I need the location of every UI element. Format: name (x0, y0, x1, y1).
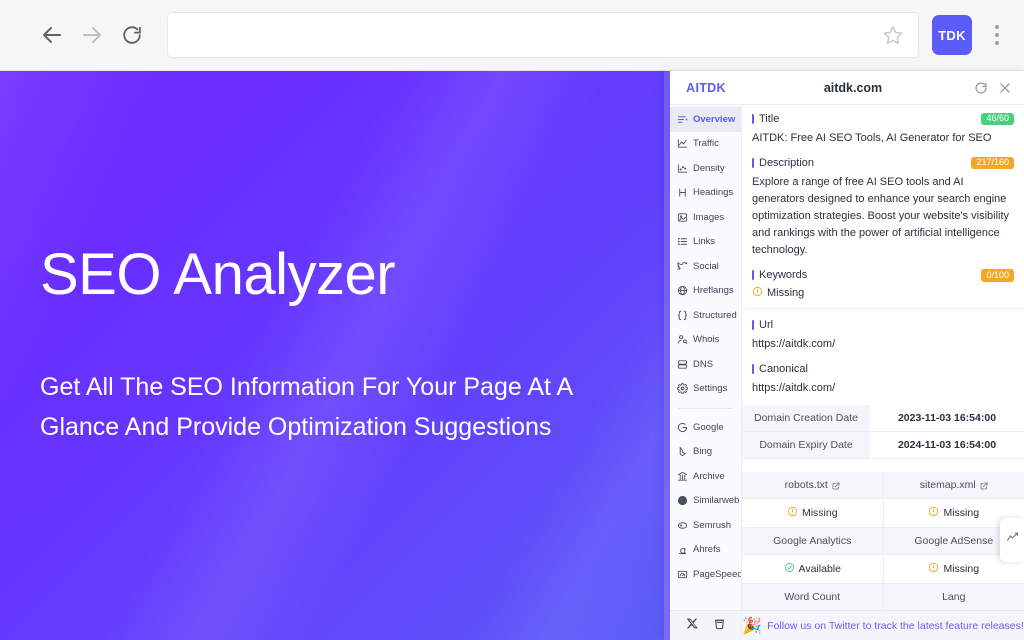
refresh-icon[interactable] (974, 81, 988, 95)
google-icon (677, 422, 688, 433)
warning-circle-icon (928, 562, 939, 576)
table-row: Domain Creation Date 2023-11-03 16:54:00 (742, 405, 1024, 432)
field-keywords: Keywords 0/100 Missing (742, 267, 1024, 300)
sidebar-item-overview[interactable]: Overview (670, 107, 741, 132)
semrush-icon (677, 520, 688, 531)
address-bar[interactable] (168, 13, 918, 57)
pagespeed-icon (677, 569, 688, 580)
sidebar-item-label: Traffic (693, 138, 719, 149)
image-icon (677, 212, 688, 223)
table-cell-value: 2024-11-03 16:54:00 (870, 432, 1024, 458)
party-popper-icon: 🎉 (742, 616, 762, 636)
headings-icon (677, 187, 688, 198)
table-cell-value: 2023-11-03 16:54:00 (870, 405, 1024, 431)
table-cell-header: Google Analytics (742, 528, 884, 555)
section-divider (742, 308, 1024, 309)
braces-icon (677, 310, 688, 321)
table-cell-header: robots.txt (785, 479, 828, 491)
field-marker (752, 364, 754, 374)
sidebar-item-images[interactable]: Images (670, 205, 741, 230)
sidebar-item-archive[interactable]: Archive (670, 464, 741, 489)
panel-domain-label: aitdk.com (742, 81, 974, 95)
table-row: Google Analytics Google AdSense (742, 528, 1024, 555)
overview-icon (677, 114, 688, 125)
sidebar-item-hreflangs[interactable]: Hreflangs (670, 279, 741, 304)
status-badge: 217/160 (971, 157, 1014, 170)
field-value: AITDK: Free AI SEO Tools, AI Generator f… (752, 130, 1014, 147)
warning-circle-icon (787, 506, 798, 520)
content-scroll[interactable]: Title 46/60 AITDK: Free AI SEO Tools, AI… (742, 105, 1024, 610)
sidebar-item-label: Social (693, 261, 719, 272)
sidebar-item-label: Images (693, 212, 724, 223)
field-status: Missing (752, 286, 1014, 300)
sidebar-item-semrush[interactable]: Semrush (670, 513, 741, 538)
check-circle-icon (784, 562, 795, 576)
density-chart-icon (677, 163, 688, 174)
warning-circle-icon (928, 506, 939, 520)
sidebar-item-label: Headings (693, 187, 733, 198)
field-value: https://aitdk.com/ (752, 336, 1014, 353)
table-cell-header: sitemap.xml (920, 479, 976, 491)
table-cell-header: Lang (884, 584, 1024, 610)
aitdk-panel: AITDK aitdk.com Overvi (664, 71, 1024, 640)
floating-chart-handle[interactable] (1000, 518, 1024, 562)
field-marker (752, 114, 754, 124)
person-search-icon (677, 334, 688, 345)
sidebar-item-label: Settings (693, 383, 727, 394)
browser-menu-button[interactable] (980, 13, 1014, 57)
kebab-menu-icon (995, 33, 999, 37)
sidebar-item-density[interactable]: Density (670, 156, 741, 181)
globe-icon (677, 285, 688, 296)
sidebar-item-pagespeed[interactable]: PageSpeed (670, 562, 741, 587)
sidebar-item-label: PageSpeed (693, 569, 741, 580)
twitter-x-icon[interactable] (686, 617, 699, 635)
sidebar-scroll[interactable]: Overview Traffic Density (670, 105, 741, 610)
field-marker (752, 270, 754, 280)
similarweb-icon (677, 495, 688, 506)
kebab-menu-icon (995, 41, 999, 45)
google-analytics-status: Available (742, 555, 884, 584)
sidebar-item-links[interactable]: Links (670, 230, 741, 255)
traffic-chart-icon (677, 138, 688, 149)
field-canonical: Canonical https://aitdk.com/ (742, 361, 1024, 397)
sidebar-item-traffic[interactable]: Traffic (670, 132, 741, 157)
field-description: Description 217/160 Explore a range of f… (742, 155, 1024, 259)
gear-icon (677, 383, 688, 394)
aitdk-extension-button[interactable]: TDK (932, 15, 972, 55)
sidebar-item-label: Whois (693, 334, 719, 345)
panel-body: Overview Traffic Density (664, 105, 1024, 640)
panel-sidebar: Overview Traffic Density (670, 105, 742, 640)
arrow-right-icon (80, 23, 104, 47)
forward-button[interactable] (72, 15, 112, 55)
table-row: Domain Expiry Date 2024-11-03 16:54:00 (742, 432, 1024, 459)
sidebar-footer (670, 610, 741, 640)
sidebar-item-label: Overview (693, 114, 735, 125)
external-link-icon (980, 481, 988, 489)
reload-icon (121, 24, 143, 46)
sidebar-item-similarweb[interactable]: Similarweb (670, 489, 741, 514)
social-bird-icon (677, 261, 688, 272)
sidebar-item-settings[interactable]: Settings (670, 377, 741, 402)
status-text: Available (799, 563, 841, 575)
back-button[interactable] (32, 15, 72, 55)
status-text: Missing (943, 507, 979, 519)
table-row: Word Count Lang (742, 584, 1024, 610)
field-marker (752, 320, 754, 330)
twitter-promo-banner[interactable]: 🎉 Follow us on Twitter to track the late… (742, 610, 1024, 640)
table-cell-header: Word Count (742, 584, 884, 610)
sidebar-item-google[interactable]: Google (670, 415, 741, 440)
links-list-icon (677, 236, 688, 247)
field-url: Url https://aitdk.com/ (742, 317, 1024, 353)
server-icon (677, 359, 688, 370)
sidebar-item-ahrefs[interactable]: Ahrefs (670, 538, 741, 563)
sidebar-item-label: Archive (693, 471, 725, 482)
field-marker (752, 158, 754, 168)
panel-brand: AITDK (670, 81, 742, 95)
sidebar-item-label: Density (693, 163, 725, 174)
table-row: Missing Missing (742, 499, 1024, 528)
sitemap-xml-link[interactable]: sitemap.xml (884, 472, 1024, 499)
sidebar-item-label: Structured (693, 310, 737, 321)
browser-toolbar: TDK (0, 0, 1024, 71)
status-text: Missing (943, 563, 979, 575)
warning-circle-icon (752, 286, 763, 300)
status-badge: 0/100 (981, 269, 1014, 282)
external-link-icon (832, 481, 840, 489)
page-subtitle: Get All The SEO Information For Your Pag… (40, 367, 640, 447)
status-badge: 46/60 (981, 113, 1014, 126)
table-cell-key: Domain Creation Date (742, 405, 870, 431)
field-label: Keywords (759, 269, 807, 281)
page-title: SEO Analyzer (40, 243, 640, 307)
sidebar-divider (678, 408, 733, 409)
sidebar-item-label: Links (693, 236, 715, 247)
kebab-menu-icon (995, 25, 999, 29)
field-label: Url (759, 319, 773, 331)
field-label: Description (759, 157, 814, 169)
sidebar-item-dns[interactable]: DNS (670, 352, 741, 377)
coffee-cup-icon[interactable] (713, 617, 726, 635)
sidebar-item-bing[interactable]: Bing (670, 440, 741, 465)
twitter-promo-text: Follow us on Twitter to track the latest… (767, 620, 1024, 632)
panel-header: AITDK aitdk.com (664, 71, 1024, 105)
field-value: https://aitdk.com/ (752, 380, 1014, 397)
url-input[interactable] (182, 27, 882, 43)
table-row: robots.txt sitemap.xml (742, 472, 1024, 499)
bing-icon (677, 446, 688, 457)
status-text: Missing (802, 507, 838, 519)
whois-table: Domain Creation Date 2023-11-03 16:54:00… (742, 405, 1024, 459)
sidebar-item-label: DNS (693, 359, 713, 370)
ahrefs-icon (677, 544, 688, 555)
arrow-left-icon (40, 23, 64, 47)
table-row: Available Missing (742, 555, 1024, 584)
field-title: Title 46/60 AITDK: Free AI SEO Tools, AI… (742, 111, 1024, 147)
hero-text-block: SEO Analyzer Get All The SEO Information… (40, 243, 640, 447)
screen: TDK SEO Analyzer Get All The SEO Informa… (0, 0, 1024, 640)
panel-header-actions (974, 81, 1012, 95)
bookmark-star-icon[interactable] (882, 24, 904, 46)
sidebar-item-structured[interactable]: Structured (670, 303, 741, 328)
sidebar-item-label: Ahrefs (693, 544, 720, 555)
robots-txt-link[interactable]: robots.txt (742, 472, 884, 499)
sidebar-item-label: Semrush (693, 520, 731, 531)
field-label: Title (759, 113, 779, 125)
status-text: Missing (767, 287, 804, 299)
sidebar-item-headings[interactable]: Headings (670, 181, 741, 206)
panel-accent-bar (664, 71, 670, 640)
sidebar-item-label: Similarweb (693, 495, 739, 506)
field-label: Canonical (759, 363, 808, 375)
sidebar-item-whois[interactable]: Whois (670, 328, 741, 353)
table-cell-key: Domain Expiry Date (742, 432, 870, 458)
sidebar-item-social[interactable]: Social (670, 254, 741, 279)
sidebar-item-label: Bing (693, 446, 712, 457)
sidebar-item-label: Hreflangs (693, 285, 734, 296)
archive-bank-icon (677, 471, 688, 482)
field-value: Explore a range of free AI SEO tools and… (752, 174, 1014, 259)
reload-button[interactable] (112, 15, 152, 55)
checks-grid: robots.txt sitemap.xml (742, 472, 1024, 610)
mini-chart-icon (1006, 531, 1019, 549)
sidebar-item-label: Google (693, 422, 724, 433)
robots-txt-status: Missing (742, 499, 884, 528)
close-icon[interactable] (998, 81, 1012, 95)
panel-content: Title 46/60 AITDK: Free AI SEO Tools, AI… (742, 105, 1024, 640)
